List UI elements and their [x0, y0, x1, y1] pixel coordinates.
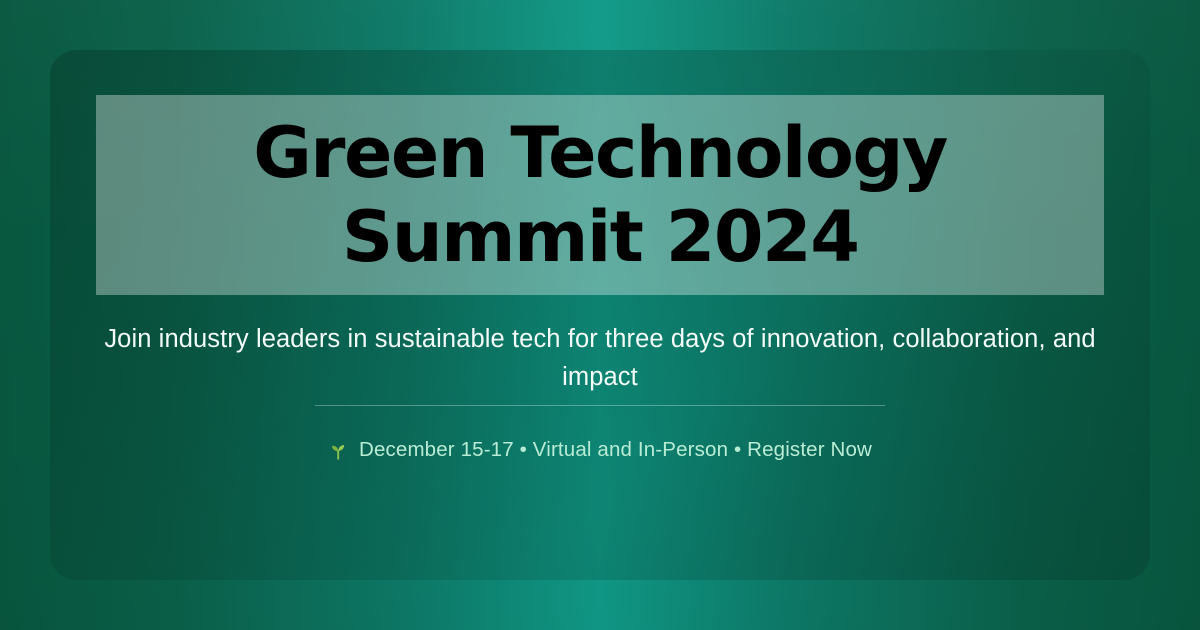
- seedling-icon: [328, 439, 350, 461]
- divider: [315, 405, 885, 406]
- banner-footer-text: December 15-17 • Virtual and In-Person •…: [359, 436, 872, 464]
- event-banner: Green Technology Summit 2024 Join indust…: [0, 0, 1200, 630]
- banner-subtitle: Join industry leaders in sustainable tec…: [96, 320, 1104, 396]
- page-title-line-1: Green Technology: [253, 111, 947, 195]
- banner-footer: December 15-17 • Virtual and In-Person •…: [96, 436, 1104, 464]
- title-highlight-band: Green Technology Summit 2024: [96, 95, 1104, 295]
- page-title-line-2: Summit 2024: [342, 195, 858, 279]
